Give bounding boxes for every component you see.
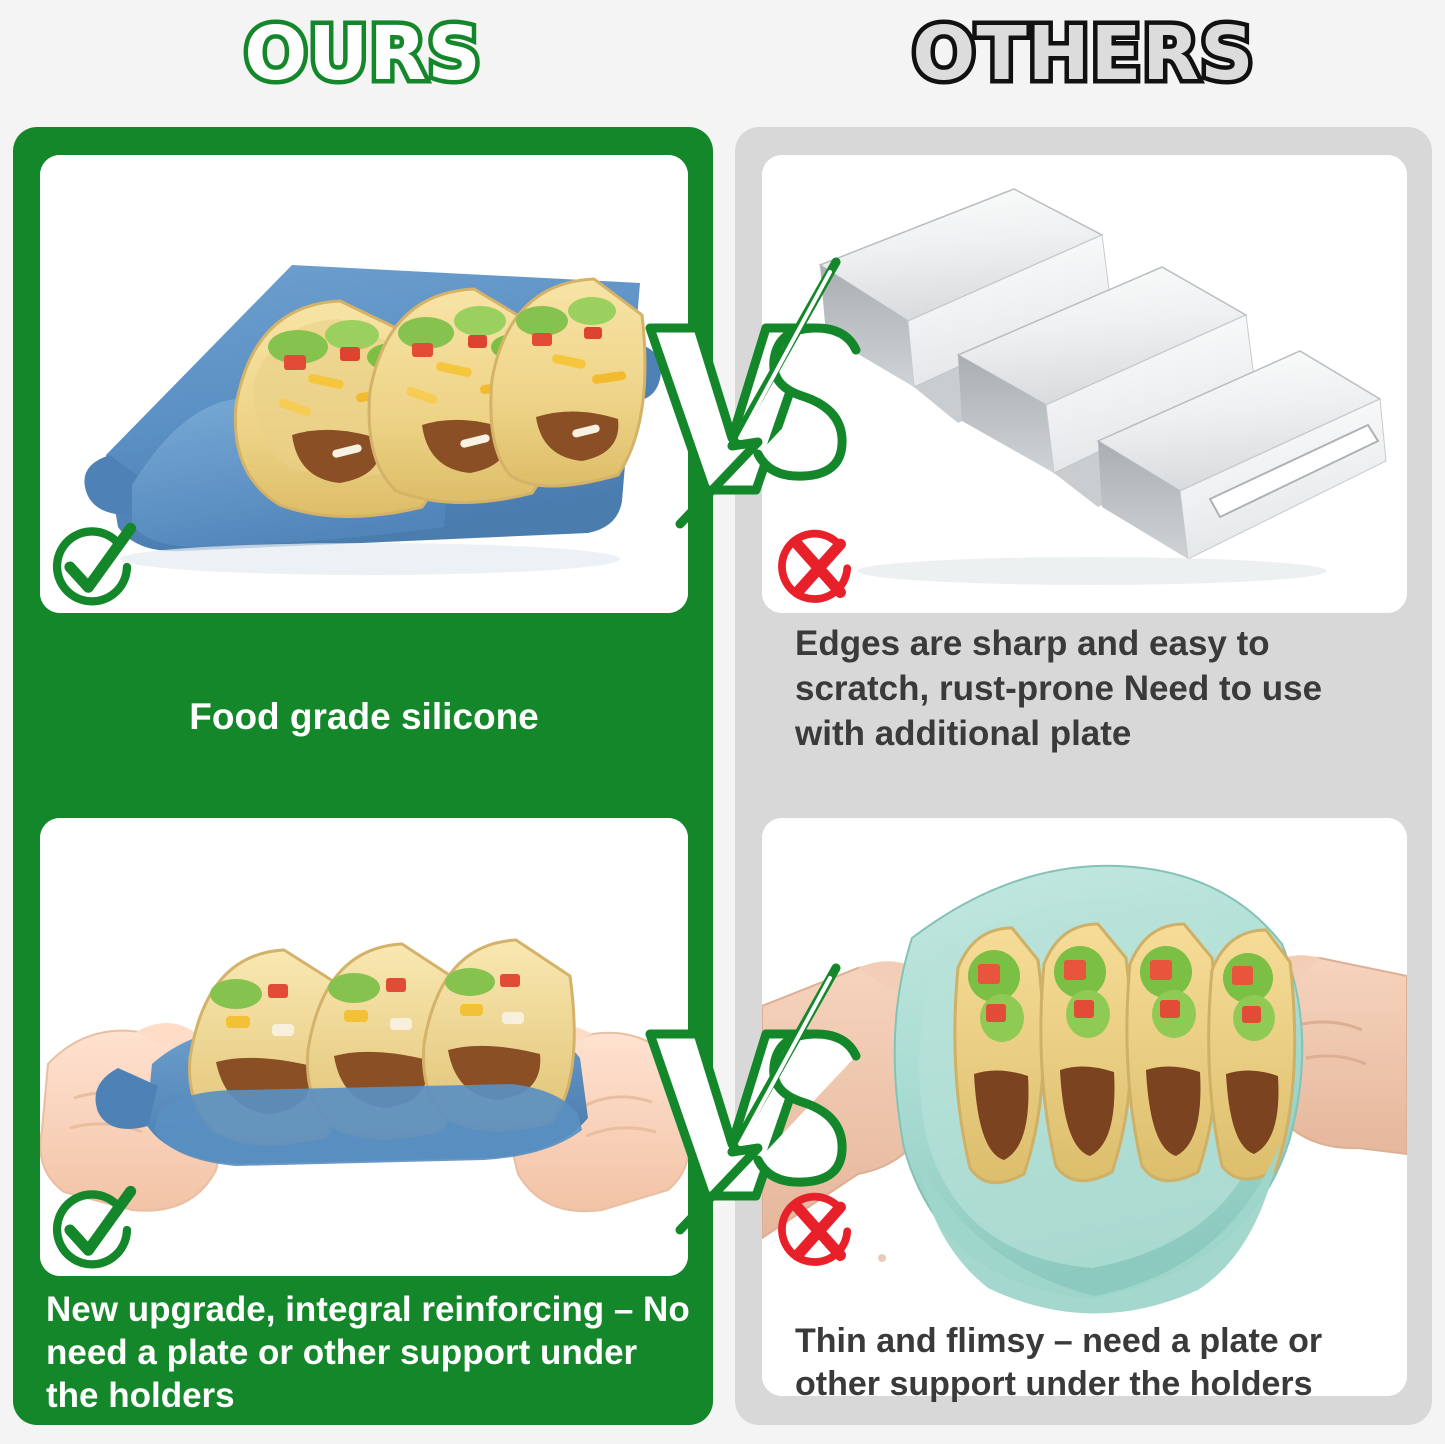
photo-card-others-bottom	[762, 818, 1407, 1396]
caption-others-bottom: Thin and flimsy – need a plate or other …	[795, 1320, 1415, 1405]
caption-others-top: Edges are sharp and easy to scratch, rus…	[795, 622, 1400, 756]
heading-others: OTHERS	[735, 16, 1432, 94]
caption-ours-bottom: New upgrade, integral reinforcing – No n…	[46, 1288, 691, 1417]
hands-holding-mint-holder-image	[762, 818, 1407, 1396]
cross-circle-icon	[775, 527, 861, 613]
caption-ours-top: Food grade silicone	[40, 622, 688, 812]
cross-circle-icon	[775, 1190, 861, 1276]
comparison-infographic: OURS OTHERS	[0, 0, 1445, 1444]
check-circle-icon	[46, 1184, 138, 1276]
check-circle-icon	[46, 521, 138, 613]
heading-ours: OURS	[13, 16, 713, 94]
